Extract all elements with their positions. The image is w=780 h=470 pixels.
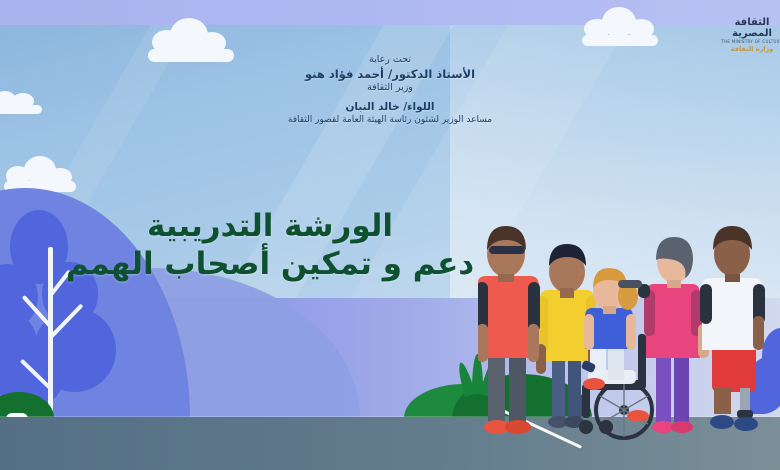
official-title: مساعد الوزير لشئون رئاسة الهيئة العامة ل… bbox=[0, 114, 780, 126]
headline-line-2: دعم و تمكين أصحاب الهمم bbox=[0, 246, 540, 284]
official-credit-block: اللواء/ خالد النبان مساعد الوزير لشئون ر… bbox=[0, 100, 780, 126]
minister-name: الأستاذ الدكتور/ أحمد فؤاد هنو bbox=[0, 67, 780, 83]
logo-english-caption: THE MINISTRY OF CULTURE bbox=[718, 40, 780, 45]
logo-arabic-calligraphy: الثقافة المصرية bbox=[730, 18, 774, 39]
poster-canvas: الثقافة المصرية THE MINISTRY OF CULTURE … bbox=[0, 0, 780, 470]
cloud-top-right bbox=[582, 18, 658, 46]
headline-line-1: الورشة التدريبية bbox=[0, 208, 540, 246]
top-color-band bbox=[0, 0, 780, 25]
patronage-credit-block: تحت رعاية الأستاذ الدكتور/ أحمد فؤاد هنو… bbox=[0, 54, 780, 95]
logo-arabic-subcaption: وزارة الثقافة bbox=[730, 46, 774, 53]
patronage-label: تحت رعاية bbox=[0, 54, 780, 67]
man-with-prosthetic-leg bbox=[700, 226, 765, 431]
ministry-of-culture-logo: الثقافة المصرية THE MINISTRY OF CULTURE … bbox=[730, 4, 774, 56]
page-title: الورشة التدريبية دعم و تمكين أصحاب الهمم bbox=[0, 208, 540, 284]
minister-title: وزير الثقافة bbox=[0, 82, 780, 95]
official-name: اللواء/ خالد النبان bbox=[0, 100, 780, 114]
